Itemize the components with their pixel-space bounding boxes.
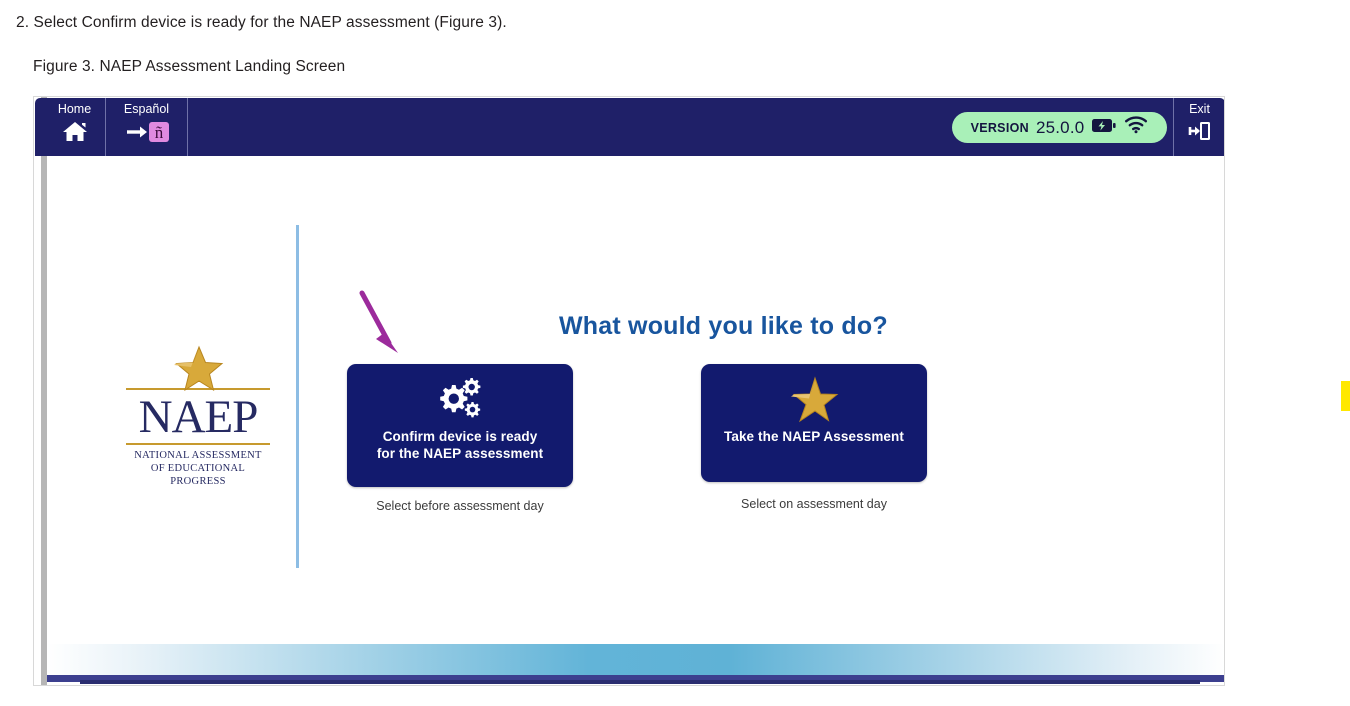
nav-home-button[interactable]: Home bbox=[44, 98, 106, 156]
naep-wordmark: NAEP bbox=[126, 392, 270, 442]
page-headline: What would you like to do? bbox=[559, 312, 888, 341]
espanol-n-glyph: ñ bbox=[154, 123, 163, 142]
footer-gradient-band bbox=[47, 644, 1225, 677]
logo-rule-bottom bbox=[126, 443, 270, 445]
naep-tagline-line1: NATIONAL ASSESSMENT bbox=[126, 449, 270, 462]
translate-to-spanish-icon: ñ bbox=[106, 119, 187, 147]
figure-caption: Figure 3. NAEP Assessment Landing Screen bbox=[33, 58, 345, 76]
footer-navy-bar-inner bbox=[80, 680, 1200, 684]
version-number: 25.0.0 bbox=[1036, 118, 1084, 138]
take-assessment-card[interactable]: Take the NAEP Assessment bbox=[701, 364, 927, 482]
page-edge-marker bbox=[1341, 381, 1350, 411]
home-icon bbox=[44, 119, 105, 147]
battery-charging-icon bbox=[1091, 117, 1117, 139]
naep-tagline-line3: PROGRESS bbox=[126, 475, 270, 488]
nav-exit-button[interactable]: Exit bbox=[1173, 98, 1225, 156]
instruction-step-text: 2. Select Confirm device is ready for th… bbox=[16, 14, 507, 32]
gears-icon bbox=[347, 364, 573, 422]
vertical-divider bbox=[296, 225, 299, 568]
app-header-bar: Home Español ñ VERSION 25.0.0 bbox=[35, 98, 1225, 156]
take-assessment-label: Take the NAEP Assessment bbox=[701, 428, 927, 445]
take-assessment-subtext: Select on assessment day bbox=[701, 497, 927, 511]
naep-logo: NAEP NATIONAL ASSESSMENT OF EDUCATIONAL … bbox=[126, 345, 270, 488]
naep-tagline: NATIONAL ASSESSMENT OF EDUCATIONAL PROGR… bbox=[126, 449, 270, 488]
naep-tagline-line2: OF EDUCATIONAL bbox=[126, 462, 270, 475]
frame-left-gutter bbox=[41, 97, 47, 685]
confirm-device-label-line1: Confirm device is ready bbox=[357, 428, 563, 445]
star-icon bbox=[701, 364, 927, 422]
take-assessment-label-line1: Take the NAEP Assessment bbox=[711, 428, 917, 445]
version-label: VERSION bbox=[971, 121, 1029, 135]
confirm-device-label: Confirm device is ready for the NAEP ass… bbox=[347, 428, 573, 462]
naep-star-icon bbox=[126, 345, 270, 391]
nav-espanol-label: Español bbox=[106, 102, 187, 117]
nav-espanol-button[interactable]: Español ñ bbox=[106, 98, 188, 156]
wifi-icon bbox=[1124, 116, 1148, 139]
version-badge: VERSION 25.0.0 bbox=[952, 112, 1167, 143]
confirm-device-card[interactable]: Confirm device is ready for the NAEP ass… bbox=[347, 364, 573, 487]
exit-door-icon bbox=[1174, 119, 1225, 147]
confirm-device-label-line2: for the NAEP assessment bbox=[357, 445, 563, 462]
nav-exit-label: Exit bbox=[1174, 102, 1225, 117]
confirm-device-subtext: Select before assessment day bbox=[347, 499, 573, 513]
nav-home-label: Home bbox=[44, 102, 105, 117]
figure-screenshot-frame: Home Español ñ VERSION 25.0.0 bbox=[33, 96, 1225, 686]
